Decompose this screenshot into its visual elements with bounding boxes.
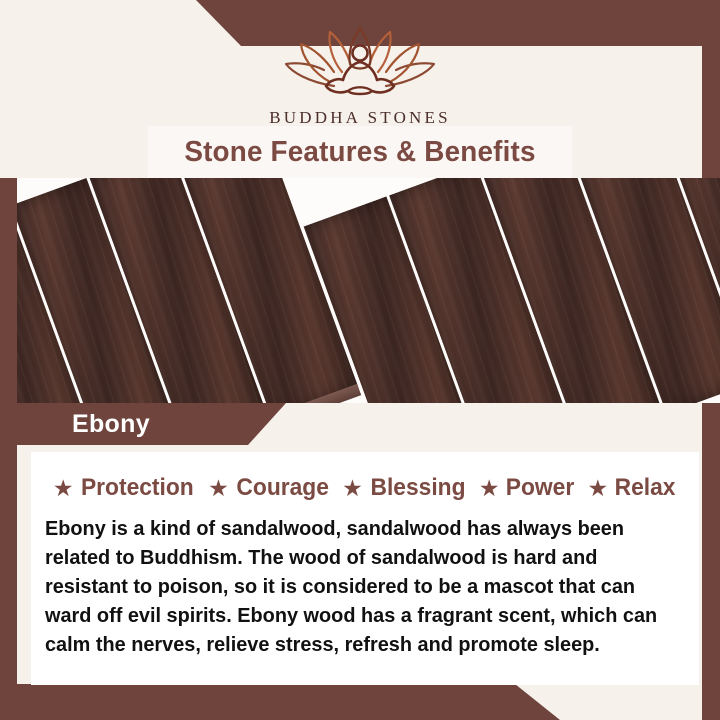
product-name-banner: Ebony	[0, 403, 330, 445]
content-card: ★ Protection ★ Courage ★ Blessing ★ Powe…	[31, 452, 699, 685]
brand-name: BUDDHA STONES	[0, 108, 720, 128]
benefit-item-power: ★ Power	[479, 474, 577, 502]
header-title-panel: Stone Features & Benefits	[148, 126, 572, 178]
benefit-item-protection: ★ Protection	[53, 474, 197, 502]
brand-logo: BUDDHA STONES	[0, 20, 720, 128]
benefit-label: Blessing	[370, 474, 465, 502]
page-title: Stone Features & Benefits	[184, 136, 535, 169]
benefit-label: Courage	[236, 474, 328, 502]
star-icon: ★	[208, 477, 229, 500]
description-text: Ebony is a kind of sandalwood, sandalwoo…	[45, 514, 666, 660]
star-icon: ★	[53, 477, 74, 500]
benefit-label: Protection	[81, 474, 194, 502]
lotus-meditation-figure-icon	[272, 20, 448, 106]
star-icon: ★	[587, 477, 608, 500]
star-icon: ★	[479, 477, 500, 500]
benefit-item-relax: ★ Relax	[587, 474, 677, 502]
frame-bottom-band	[0, 684, 560, 720]
benefit-item-blessing: ★ Blessing	[342, 474, 468, 502]
product-photo	[17, 178, 720, 403]
star-icon: ★	[342, 477, 363, 500]
product-name: Ebony	[72, 410, 150, 439]
benefit-item-courage: ★ Courage	[208, 474, 331, 502]
infographic-poster: BUDDHA STONES Stone Features & Benefits …	[0, 0, 720, 720]
benefit-label: Power	[506, 474, 574, 502]
frame-left-band	[0, 178, 17, 720]
benefit-label: Relax	[615, 474, 676, 502]
plank-group-right	[304, 178, 720, 403]
benefits-row: ★ Protection ★ Courage ★ Blessing ★ Powe…	[31, 452, 699, 502]
